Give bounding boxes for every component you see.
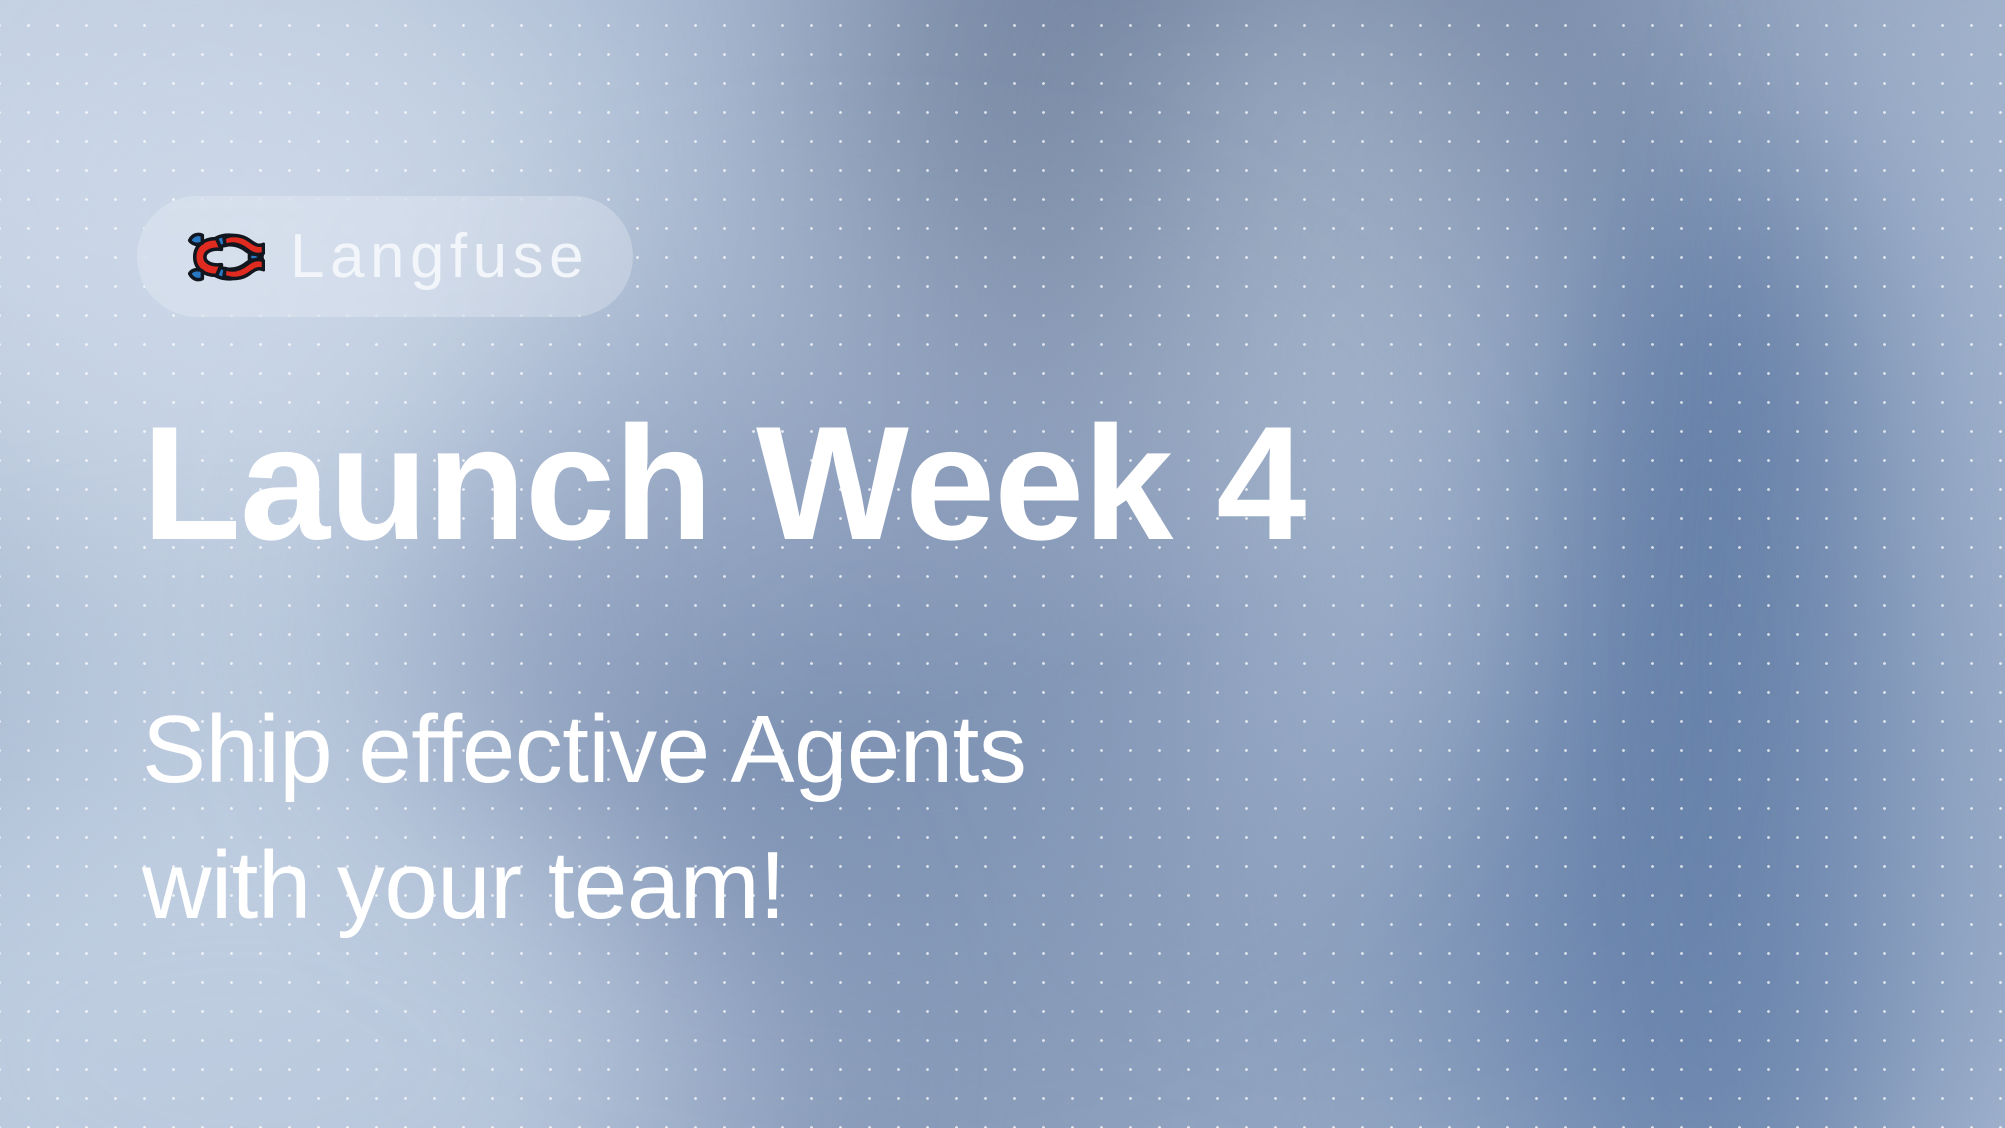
page-subtitle-line-2: with your team!	[142, 818, 1026, 954]
page-subtitle: Ship effective Agents with your team!	[142, 682, 1026, 955]
page-subtitle-line-1: Ship effective Agents	[142, 682, 1026, 818]
banner-content: Langfuse Launch Week 4 Ship effective Ag…	[0, 0, 2005, 1128]
launch-week-banner: Langfuse Launch Week 4 Ship effective Ag…	[0, 0, 2005, 1128]
brand-badge-label: Langfuse	[290, 226, 589, 288]
brand-badge: Langfuse	[137, 196, 633, 317]
page-title: Launch Week 4	[142, 398, 1305, 570]
langfuse-knot-logo-icon	[183, 229, 265, 285]
